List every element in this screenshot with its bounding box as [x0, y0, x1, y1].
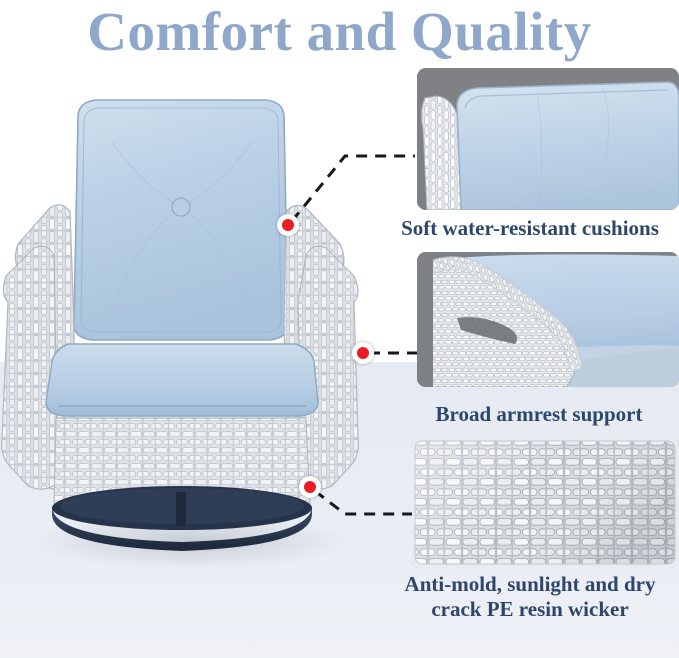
tuft-button — [172, 198, 190, 216]
hotspot-marker-wicker[interactable] — [299, 476, 321, 498]
chair-illustration — [0, 62, 410, 582]
feature-caption-cushion: Soft water-resistant cushions — [381, 216, 679, 241]
base-strut — [176, 492, 186, 526]
inset-panel-cushion — [417, 68, 679, 210]
hotspot-marker-cushion[interactable] — [277, 214, 299, 236]
back-cushion — [74, 100, 288, 340]
red-dot-marker-icon — [304, 481, 316, 493]
red-dot-marker-icon — [357, 347, 369, 359]
feature-caption-wicker: Anti-mold, sunlight and dry crack PE res… — [381, 572, 679, 622]
product-hero-image — [0, 62, 410, 582]
inset-panel-wicker — [411, 437, 679, 568]
hotspot-marker-armrest[interactable] — [352, 342, 374, 364]
seat-cushion — [46, 344, 318, 416]
page-title: Comfort and Quality — [0, 2, 679, 62]
inset-panel-armrest — [417, 252, 679, 387]
feature-caption-armrest: Broad armrest support — [399, 402, 679, 427]
red-dot-marker-icon — [282, 219, 294, 231]
